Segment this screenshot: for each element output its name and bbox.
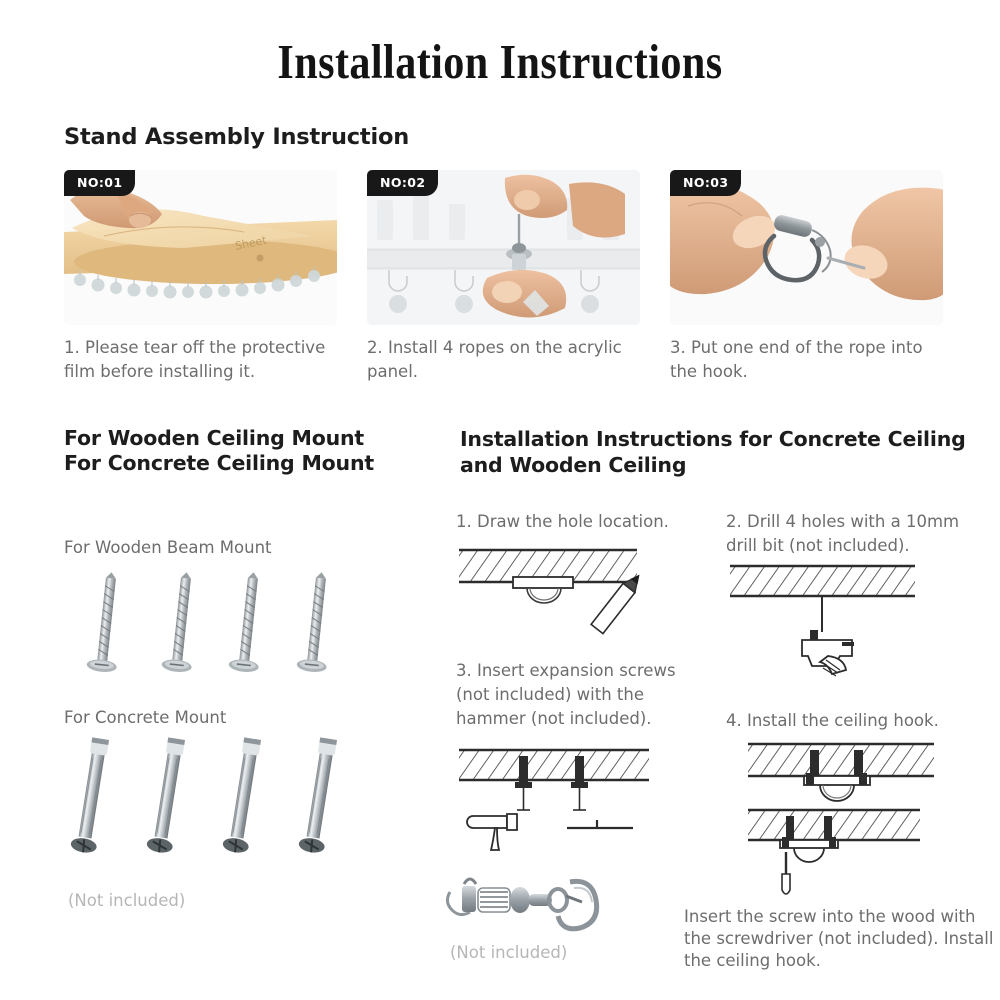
wooden-beam-mount-label: For Wooden Beam Mount <box>64 538 272 557</box>
ceiling-section-heading: Installation Instructions for Concrete C… <box>460 426 980 478</box>
step-badge-3: NO:03 <box>670 170 741 196</box>
mount-heading-line-1: For Wooden Ceiling Mount <box>64 426 374 451</box>
ceiling-step-4-text: 4. Install the ceiling hook. <box>726 709 984 733</box>
step-caption-1: 1. Please tear off the protective film b… <box>64 336 344 384</box>
left-not-included-note: (Not included) <box>68 891 185 910</box>
page-title: Installation Instructions <box>70 33 930 90</box>
concrete-expansion-anchors-illustration <box>64 728 394 868</box>
ceiling-step-1-text: 1. Draw the hole location. <box>456 510 706 534</box>
step-caption-3: 3. Put one end of the rope into the hook… <box>670 336 950 384</box>
mount-section-heading: For Wooden Ceiling Mount For Concrete Ce… <box>64 426 374 476</box>
rope-swivel-carabiner-hardware-illustration <box>440 872 670 942</box>
ceiling-slab-drill-diagram <box>726 558 956 688</box>
step-photo-2: NO:02 <box>367 170 640 325</box>
rope-hardware-not-included-note: (Not included) <box>450 943 567 962</box>
installation-instructions-page: Installation Instructions Stand Assembly… <box>0 0 1000 1000</box>
ceiling-step-2-text: 2. Drill 4 holes with a 10mm drill bit (… <box>726 510 984 558</box>
ceiling-step-3-text: 3. Insert expansion screws (not included… <box>456 659 706 731</box>
wood-screws-illustration <box>64 570 384 680</box>
ceiling-heading-line-1: Installation Instructions for Concrete C… <box>460 426 980 452</box>
step-badge-1: NO:01 <box>64 170 135 196</box>
ceiling-slab-expansion-screws-hammer-diagram <box>455 742 690 862</box>
ceiling-slab-plate-pencil-diagram <box>455 540 685 650</box>
step-photo-3: NO:03 <box>670 170 943 325</box>
ceiling-heading-line-2: and Wooden Ceiling <box>460 452 980 478</box>
mount-heading-line-2: For Concrete Ceiling Mount <box>64 451 374 476</box>
ceiling-footer-text: Insert the screw into the wood with the … <box>684 906 994 972</box>
step-caption-2: 2. Install 4 ropes on the acrylic panel. <box>367 336 647 384</box>
concrete-mount-label: For Concrete Mount <box>64 708 226 727</box>
ceiling-hook-install-diagram <box>726 740 976 900</box>
stand-assembly-heading: Stand Assembly Instruction <box>64 124 409 150</box>
step-photo-1: Sheet NO:01 <box>64 170 337 325</box>
step-badge-2: NO:02 <box>367 170 438 196</box>
